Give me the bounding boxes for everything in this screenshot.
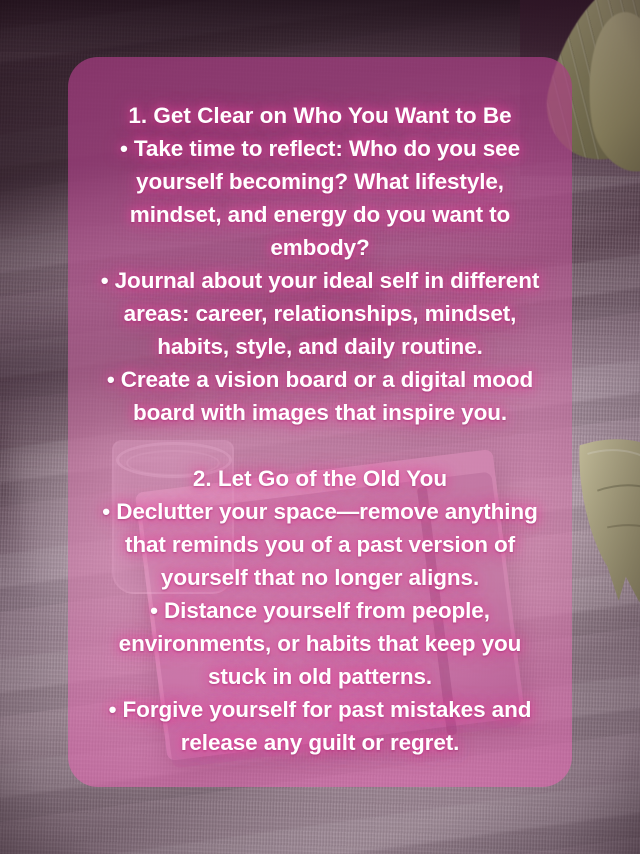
section-line: that reminds you of a past version of [82,528,558,561]
section-line: board with images that inspire you. [82,396,558,429]
section-heading: 1. Get Clear on Who You Want to Be [82,99,558,132]
section-line: • Distance yourself from people, [82,594,558,627]
section-gap [82,429,558,462]
section-line: • Journal about your ideal self in diffe… [82,264,558,297]
section-line: mindset, and energy do you want to [82,198,558,231]
section-line: habits, style, and daily routine. [82,330,558,363]
text-block: 1. Get Clear on Who You Want to Be • Tak… [82,99,558,759]
section-line: environments, or habits that keep you [82,627,558,660]
screenshot-root: 1. Get Clear on Who You Want to Be • Tak… [0,0,640,854]
section-line: • Create a vision board or a digital moo… [82,363,558,396]
section-line: yourself becoming? What lifestyle, [82,165,558,198]
section-line: • Declutter your space—remove anything [82,495,558,528]
section-line: embody? [82,231,558,264]
section-line: • Forgive yourself for past mistakes and [82,693,558,726]
section-heading: 2. Let Go of the Old You [82,462,558,495]
pink-overlay-card: 1. Get Clear on Who You Want to Be • Tak… [68,57,572,787]
section-line: yourself that no longer aligns. [82,561,558,594]
section-line: stuck in old patterns. [82,660,558,693]
section-line: • Take time to reflect: Who do you see [82,132,558,165]
section-line: areas: career, relationships, mindset, [82,297,558,330]
section-line: release any guilt or regret. [82,726,558,759]
